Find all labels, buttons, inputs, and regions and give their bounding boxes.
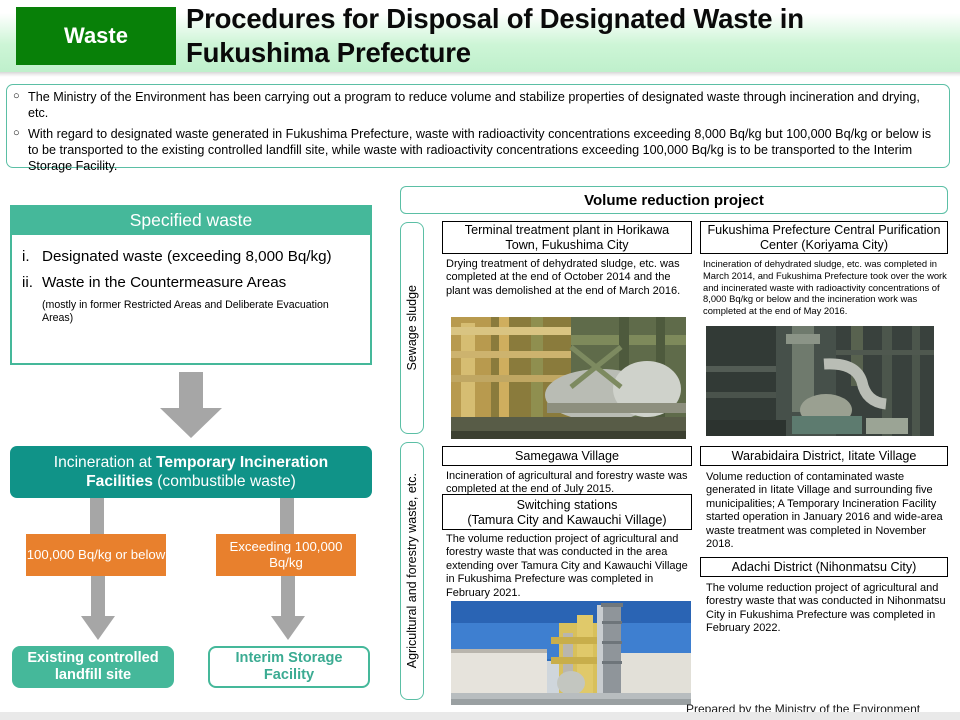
intro-text-1: The Ministry of the Environment has been… xyxy=(28,89,941,122)
photo-purification-center-icon xyxy=(706,326,934,436)
page-title: Procedures for Disposal of Designated Wa… xyxy=(186,2,946,69)
card-body-horikawa: Drying treatment of dehydrated sludge, e… xyxy=(446,258,694,298)
flow-arrow-right-upper xyxy=(272,498,302,536)
incineration-tail: (combustible waste) xyxy=(153,473,296,490)
intro-summary-box: ○ The Ministry of the Environment has be… xyxy=(6,84,950,168)
card-title-warabidaira-text: Warabidaira District, Iitate Village xyxy=(732,449,917,464)
down-arrow-icon xyxy=(272,498,302,536)
threshold-exceeding-label: Exceeding 100,000 Bq/kg xyxy=(216,539,356,571)
circle-bullet-icon: ○ xyxy=(13,89,28,105)
result-interim-storage-label: Interim Storage Facility xyxy=(210,650,368,685)
waste-category-badge: Waste xyxy=(16,7,176,65)
result-box-landfill: Existing controlled landfill site xyxy=(12,646,174,688)
specified-waste-item-1-text: Designated waste (exceeding 8,000 Bq/kg) xyxy=(42,247,332,266)
specified-waste-body: i. Designated waste (exceeding 8,000 Bq/… xyxy=(10,235,372,365)
card-photo-horikawa xyxy=(451,317,686,439)
card-title-adachi-text: Adachi District (Nihonmatsu City) xyxy=(732,560,917,575)
specified-waste-item-2-text: Waste in the Countermeasure Areas xyxy=(42,273,286,292)
card-title-adachi: Adachi District (Nihonmatsu City) xyxy=(700,557,948,577)
card-title-warabidaira: Warabidaira District, Iitate Village xyxy=(700,446,948,466)
photo-drying-plant-icon xyxy=(451,317,686,439)
intro-bullet-item-1: ○ The Ministry of the Environment has be… xyxy=(13,89,941,122)
result-box-interim-storage: Interim Storage Facility xyxy=(208,646,370,688)
specified-waste-item-2-note: (mostly in former Restricted Areas and D… xyxy=(42,299,362,325)
slide-page: Waste Procedures for Disposal of Designa… xyxy=(0,0,960,720)
card-title-samegawa: Samegawa Village xyxy=(442,446,692,466)
threshold-below-label: 100,000 Bq/kg or below xyxy=(27,547,166,563)
threshold-box-below: 100,000 Bq/kg or below xyxy=(26,534,166,576)
card-title-horikawa: Terminal treatment plant in Horikawa Tow… xyxy=(442,221,692,254)
volume-reduction-header: Volume reduction project xyxy=(400,186,948,214)
card-title-koriyama: Fukushima Prefecture Central Purificatio… xyxy=(700,221,948,254)
list-marker-i: i. xyxy=(22,247,42,266)
specified-waste-header: Specified waste xyxy=(10,205,372,235)
card-body-switching-stations: The volume reduction project of agricult… xyxy=(446,533,694,600)
result-landfill-label: Existing controlled landfill site xyxy=(12,650,174,685)
incineration-step-box: Incineration at Temporary Incineration F… xyxy=(10,446,372,498)
incineration-step-text: Incineration at Temporary Incineration F… xyxy=(20,453,362,492)
card-title-switching-line1: Switching stations xyxy=(447,498,687,513)
specified-waste-item-2: ii. Waste in the Countermeasure Areas xyxy=(22,273,362,292)
card-title-horikawa-text: Terminal treatment plant in Horikawa Tow… xyxy=(447,223,687,253)
card-body-warabidaira: Volume reduction of contaminated waste g… xyxy=(706,471,946,551)
incineration-lead: Incineration at xyxy=(54,454,156,471)
circle-bullet-icon: ○ xyxy=(13,126,28,142)
list-marker-ii: ii. xyxy=(22,273,42,292)
waste-badge-label: Waste xyxy=(64,23,128,49)
photo-incineration-facility-icon xyxy=(451,601,691,705)
flow-arrow-left-lower xyxy=(78,576,118,642)
category-agricultural-text: Agricultural and forestry waste, etc. xyxy=(405,473,419,668)
card-title-switching-line2: (Tamura City and Kawauchi Village) xyxy=(447,513,687,528)
card-body-koriyama: Incineration of dehydrated sludge, etc. … xyxy=(703,258,949,317)
header-divider xyxy=(0,72,960,77)
specified-waste-title: Specified waste xyxy=(130,210,253,231)
card-title-samegawa-text: Samegawa Village xyxy=(515,449,619,464)
flow-arrow-down-main xyxy=(152,372,230,440)
footer-band xyxy=(0,712,960,720)
category-label-sewage-sludge: Sewage sludge xyxy=(400,222,424,434)
category-label-agricultural: Agricultural and forestry waste, etc. xyxy=(400,442,424,700)
card-body-adachi: The volume reduction project of agricult… xyxy=(706,582,946,636)
flow-arrow-left-upper xyxy=(82,498,112,536)
intro-bullet-item-2: ○ With regard to designated waste genera… xyxy=(13,126,941,175)
flow-arrow-right-lower xyxy=(268,576,308,642)
category-sewage-sludge-text: Sewage sludge xyxy=(405,285,419,370)
card-photo-switching-stations xyxy=(451,601,691,705)
down-arrow-icon xyxy=(268,576,308,642)
card-photo-koriyama xyxy=(706,326,934,436)
down-arrow-icon xyxy=(82,498,112,536)
volume-reduction-title: Volume reduction project xyxy=(584,192,764,209)
threshold-box-exceeding: Exceeding 100,000 Bq/kg xyxy=(216,534,356,576)
specified-waste-item-1: i. Designated waste (exceeding 8,000 Bq/… xyxy=(22,247,362,266)
intro-text-2: With regard to designated waste generate… xyxy=(28,126,941,175)
card-title-switching-stations: Switching stations (Tamura City and Kawa… xyxy=(442,494,692,530)
down-arrow-icon xyxy=(152,372,230,440)
down-arrow-icon xyxy=(78,576,118,642)
card-title-koriyama-text: Fukushima Prefecture Central Purificatio… xyxy=(705,223,943,253)
card-body-samegawa: Incineration of agricultural and forestr… xyxy=(446,470,694,497)
